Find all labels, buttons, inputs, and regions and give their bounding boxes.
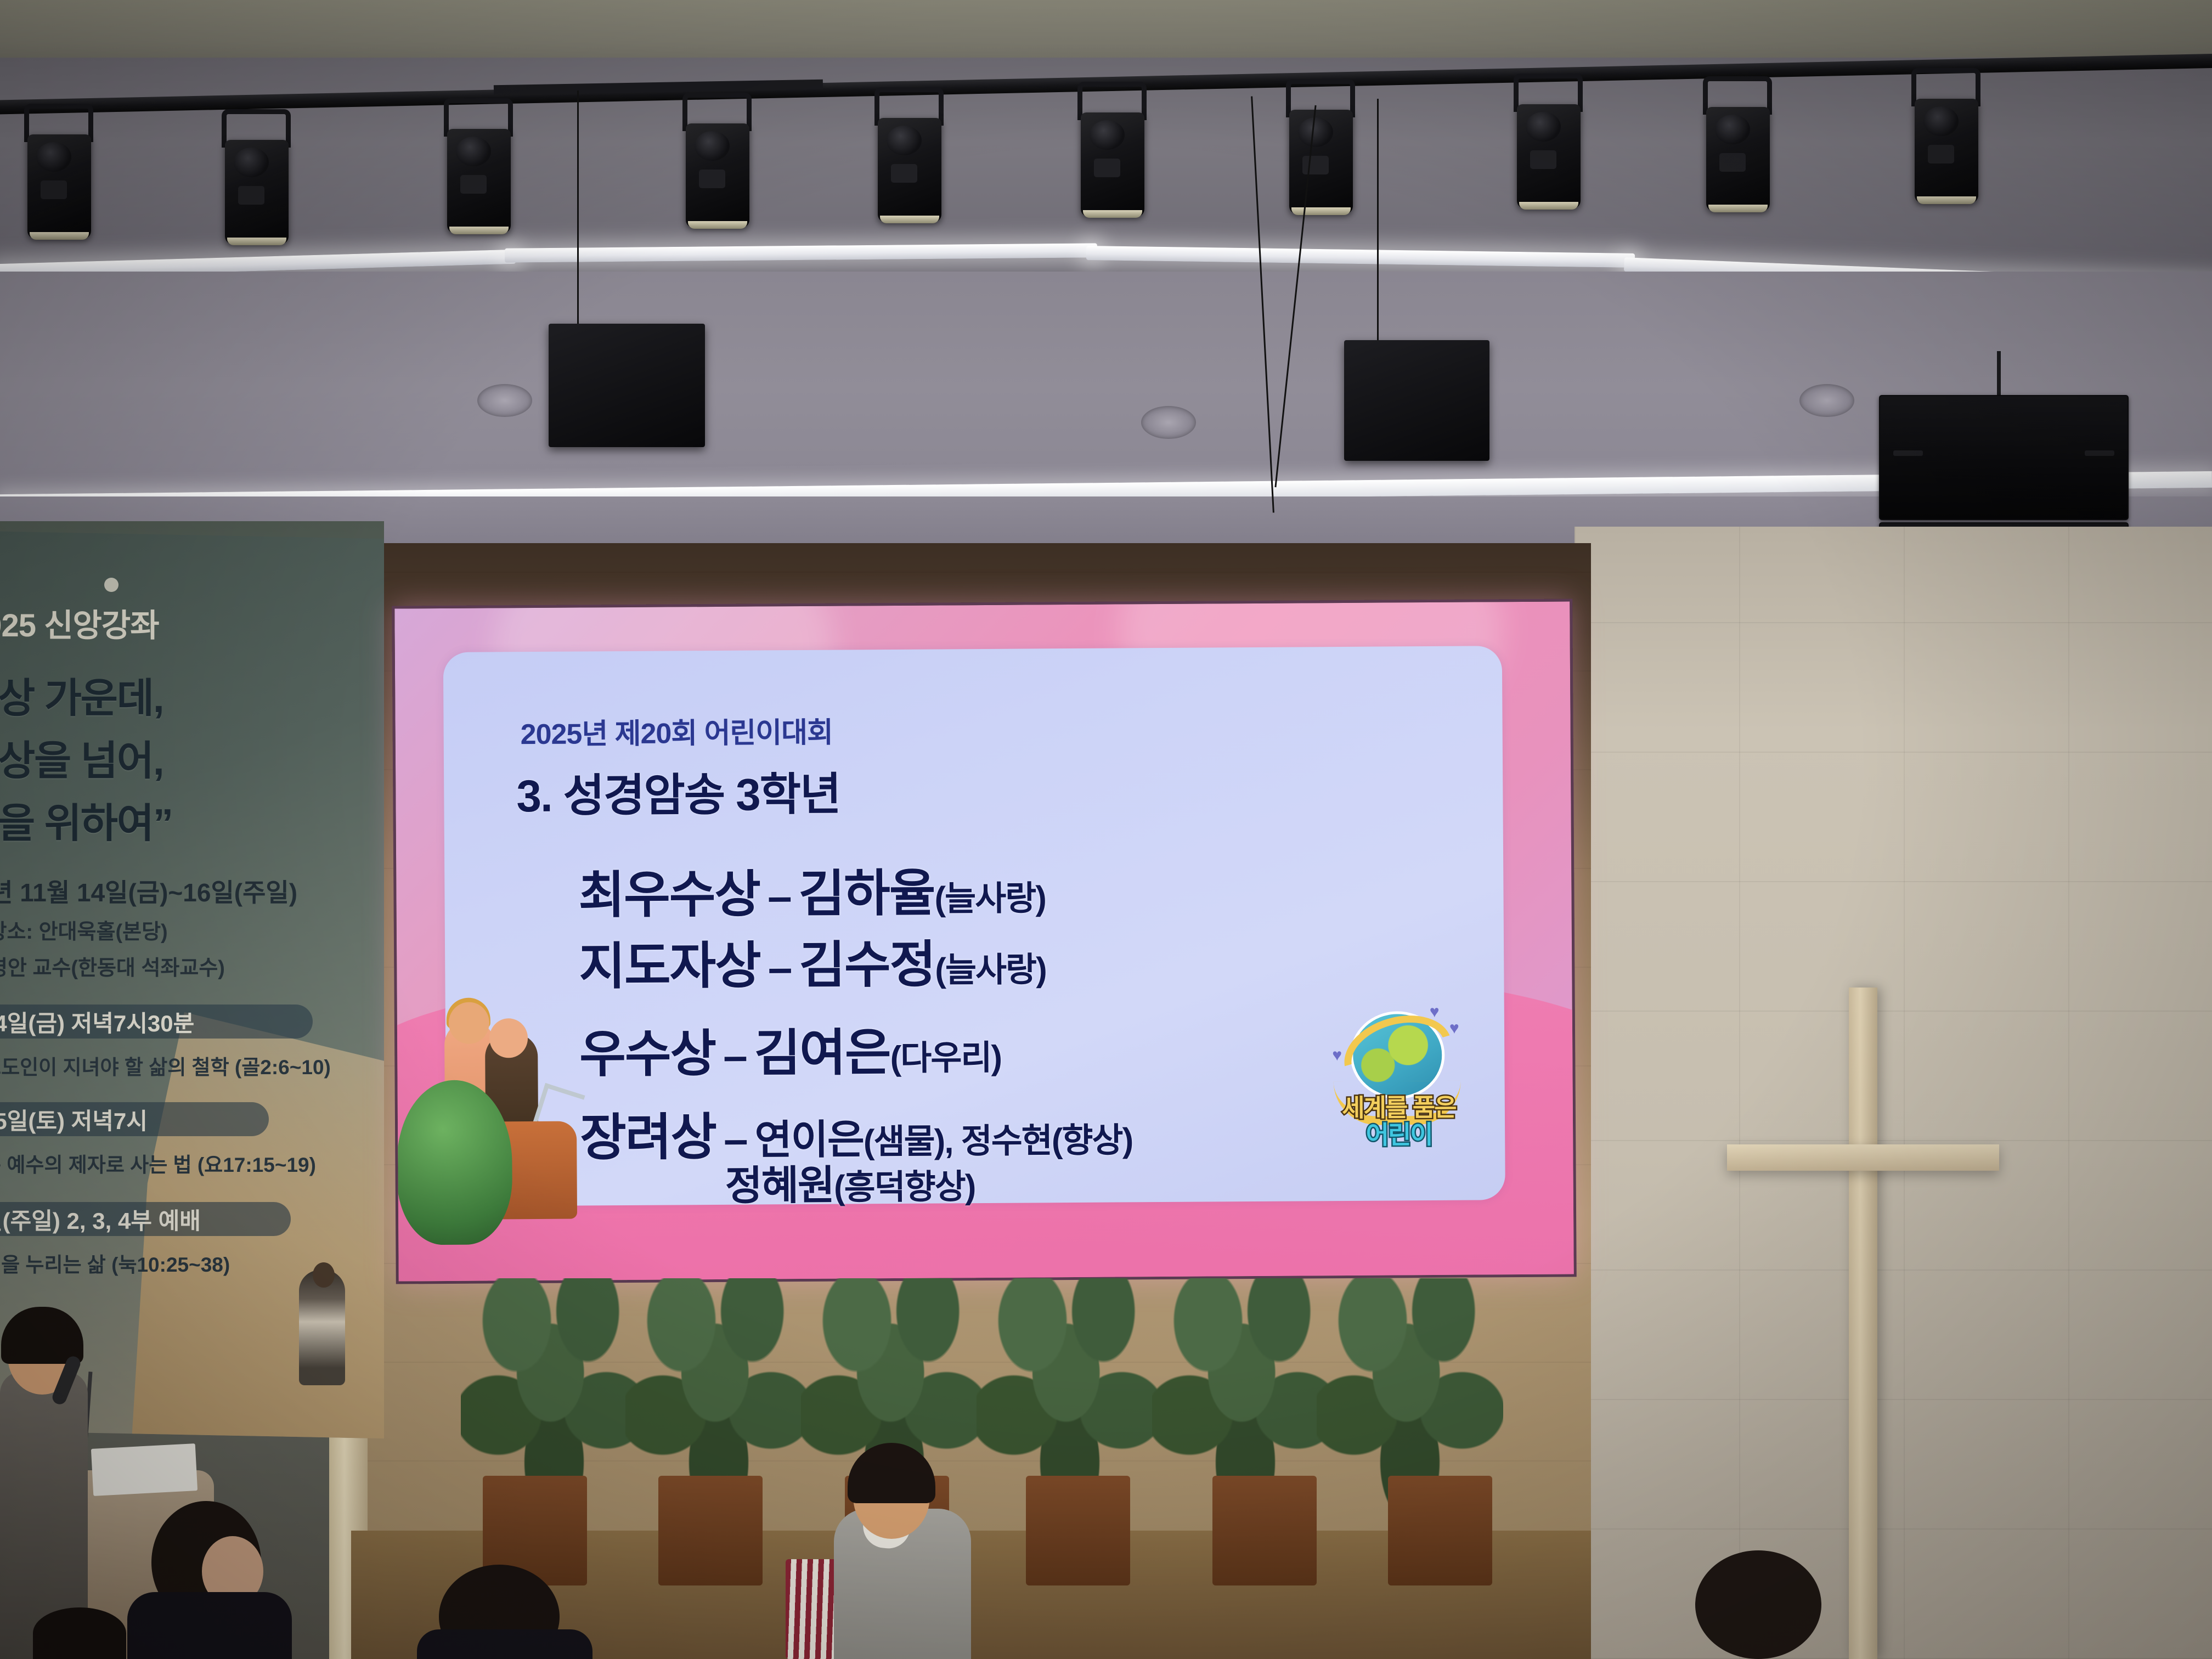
- slide-content-card: 2025년 제20회 어린이대회 3. 성경암송 3학년 최우수상–김하율(늘사…: [443, 646, 1505, 1206]
- heart-icon: ♥: [1449, 1019, 1459, 1038]
- award-label-2: 지도자상: [579, 938, 760, 995]
- banner-session-pill-1: 14일(금) 저녁7시30분: [0, 1005, 313, 1039]
- award-name-5: 정혜원: [725, 1163, 834, 1209]
- event-banner: 2025 신앙강좌 세상 가운데, 세상을 넘어, 상을 위하여” 25년 11…: [0, 531, 384, 1438]
- ceiling-hung-speaker-box: [1344, 340, 1489, 461]
- bush-shrub: [397, 1080, 513, 1245]
- award-dash-1: –: [760, 872, 799, 921]
- banner-session-subtitle-1: 리스도인이 지녀야 할 삶의 철학 (골2:6~10): [0, 1051, 384, 1080]
- banner-bullet-dot: [104, 578, 119, 592]
- seated-attendee-2-body: [417, 1629, 592, 1659]
- award-label-1: 최우수상: [578, 866, 760, 923]
- seated-attendee-1-body: [127, 1592, 292, 1659]
- award-dash-3: –: [715, 1031, 754, 1080]
- banner-session-pill-3: 일(주일) 2, 3, 4부 예배: [0, 1202, 291, 1236]
- planter-box: [1388, 1476, 1492, 1585]
- award-dash-2: –: [760, 943, 799, 992]
- seated-attendee-4-hair: [33, 1607, 126, 1659]
- adam-head: [449, 1002, 489, 1044]
- banner-session-subtitle-2: 받은 예수의 제자로 사는 법 (요17:15~19): [0, 1148, 384, 1178]
- seated-attendee-3-hair: [1695, 1550, 1821, 1659]
- award-group-3: (다우리): [890, 1039, 1001, 1077]
- award-label-4: 장려상: [580, 1109, 716, 1166]
- sanctuary-photo: 2025 신앙강좌 세상 가운데, 세상을 넘어, 상을 위하여” 25년 11…: [0, 0, 2212, 1659]
- banner-speaker: 강영안 교수(한동대 석좌교수): [0, 951, 384, 981]
- award-group-5: (흥덕향상): [834, 1168, 975, 1207]
- planter-box: [1212, 1476, 1317, 1585]
- award-group-2: (늘사랑): [935, 951, 1046, 989]
- ceiling-hung-speaker-box: [549, 324, 705, 447]
- stone-wall-right: [1575, 527, 2212, 1659]
- eve-head: [489, 1018, 528, 1058]
- award-name-3: 김여은: [754, 1025, 890, 1082]
- suspension-cable: [577, 91, 579, 326]
- event-logo: ♥ ♥ ♥ 세계를 품은 어린이: [1328, 1005, 1466, 1149]
- award-name-2: 김수정: [799, 937, 935, 994]
- projection-screen: 2025년 제20회 어린이대회 3. 성경암송 3학년 최우수상–김하율(늘사…: [392, 599, 1577, 1284]
- garden-illustration: [402, 991, 584, 1245]
- award-label-3: 우수상: [579, 1026, 716, 1083]
- planter-box: [658, 1476, 763, 1585]
- speaker-rigging-chain: [1997, 351, 2001, 400]
- award-row-4-continuation: 정혜원(흥덕향상): [725, 1152, 975, 1212]
- award-row-3: 우수상–김여은(다우리): [579, 1011, 1002, 1087]
- banner-date-range: 25년 11월 14일(금)~16일(주일): [0, 873, 379, 909]
- podium-papers: [91, 1443, 198, 1496]
- slide-header: 2025년 제20회 어린이대회: [520, 709, 833, 752]
- award-row-1: 최우수상–김하율(늘사랑): [578, 851, 1046, 927]
- banner-eyebrow: 2025 신앙강좌: [0, 600, 373, 646]
- heart-icon: ♥: [1332, 1046, 1342, 1065]
- jesus-figure-head: [313, 1262, 335, 1288]
- wall-mounted-cross: [1849, 988, 1877, 1659]
- logo-text-line-2: 어린이: [1341, 1115, 1457, 1152]
- award-row-2: 지도자상–김수정(늘사랑): [579, 923, 1046, 998]
- award-name-1: 김하율: [798, 866, 935, 923]
- banner-session-pill-2: 15일(토) 저녁7시: [0, 1102, 269, 1136]
- slide-title: 3. 성경암송 3학년: [516, 758, 840, 825]
- wall-mounted-cross-arm: [1727, 1144, 1999, 1171]
- recessed-downlight: [1141, 406, 1196, 439]
- recessed-downlight: [477, 384, 532, 417]
- recessed-downlight: [1799, 384, 1854, 417]
- plant-row: [461, 1278, 1520, 1585]
- award-group-1: (늘사랑): [934, 879, 1046, 918]
- suspension-cable: [1377, 99, 1379, 343]
- planter-box: [1026, 1476, 1130, 1585]
- banner-headline-line-1: 세상 가운데,: [0, 665, 379, 724]
- banner-place: ● 장소: 안대욱홀(본당): [0, 915, 384, 945]
- banner-headline-line-3: 상을 위하여”: [0, 791, 379, 849]
- banner-headline-line-2: 세상을 넘어,: [0, 728, 379, 787]
